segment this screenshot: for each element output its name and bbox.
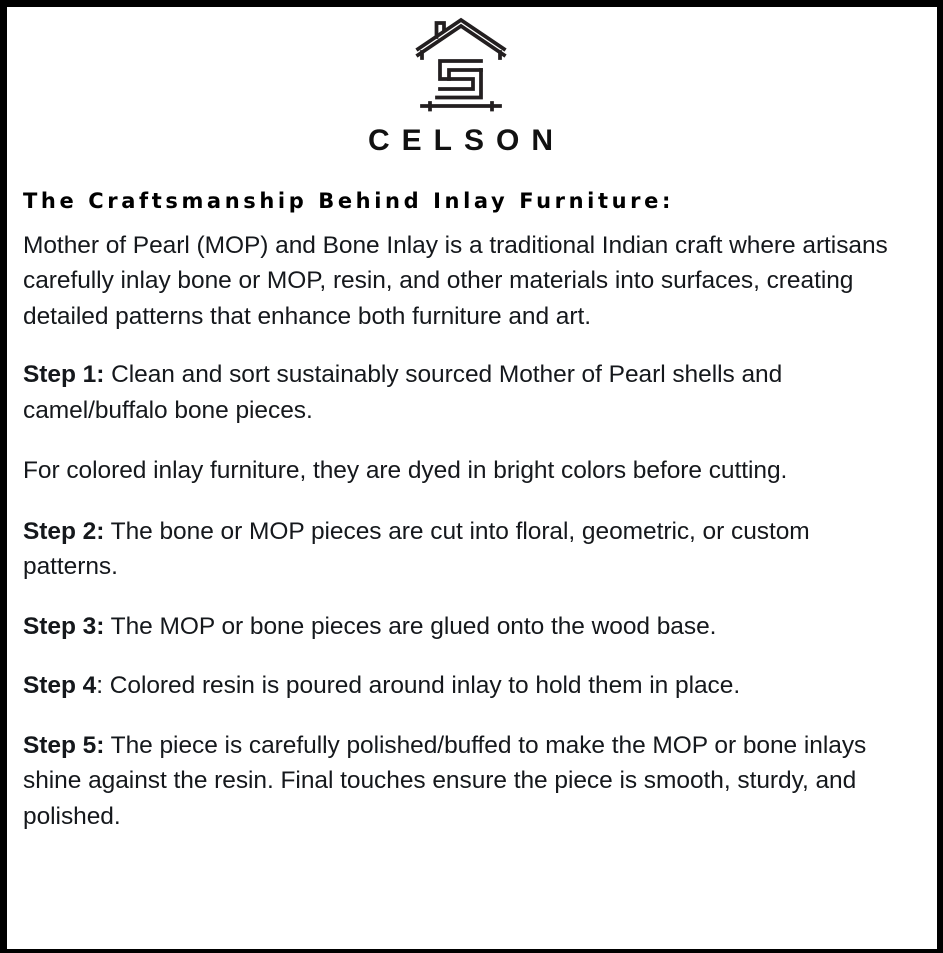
step-1-paragraph: Step 1: Clean and sort sustainably sourc…	[23, 357, 905, 428]
dye-note-paragraph: For colored inlay furniture, they are dy…	[23, 453, 905, 489]
intro-paragraph: Mother of Pearl (MOP) and Bone Inlay is …	[23, 228, 905, 335]
article-body: Mother of Pearl (MOP) and Bone Inlay is …	[23, 214, 905, 835]
house-monogram-logo-icon	[415, 16, 507, 114]
step-1-label: Step 1:	[23, 361, 104, 388]
step-3-paragraph: Step 3: The MOP or bone pieces are glued…	[23, 609, 905, 645]
step-5-text: The piece is carefully polished/buffed t…	[23, 732, 866, 830]
page-title: The Craftsmanship Behind Inlay Furniture…	[23, 189, 905, 214]
step-2-text: The bone or MOP pieces are cut into flor…	[23, 518, 810, 581]
step-2-label: Step 2:	[23, 518, 104, 545]
poster-card: CELSON The Craftsmanship Behind Inlay Fu…	[0, 0, 943, 953]
step-1-text: Clean and sort sustainably sourced Mothe…	[23, 361, 782, 424]
poster-inner: CELSON The Craftsmanship Behind Inlay Fu…	[7, 7, 937, 949]
step-4-text: : Colored resin is poured around inlay t…	[96, 672, 740, 699]
brand-block: CELSON	[16, 12, 905, 157]
step-2-paragraph: Step 2: The bone or MOP pieces are cut i…	[23, 514, 905, 585]
intro-text: Mother of Pearl (MOP) and Bone Inlay is …	[23, 232, 888, 330]
step-4-label: Step 4	[23, 672, 96, 699]
step-3-text: The MOP or bone pieces are glued onto th…	[104, 613, 716, 640]
step-4-paragraph: Step 4: Colored resin is poured around i…	[23, 668, 905, 704]
step-5-paragraph: Step 5: The piece is carefully polished/…	[23, 728, 905, 835]
dye-note-text: For colored inlay furniture, they are dy…	[23, 457, 787, 484]
step-3-label: Step 3:	[23, 613, 104, 640]
step-5-label: Step 5:	[23, 732, 104, 759]
brand-name: CELSON	[16, 125, 905, 157]
